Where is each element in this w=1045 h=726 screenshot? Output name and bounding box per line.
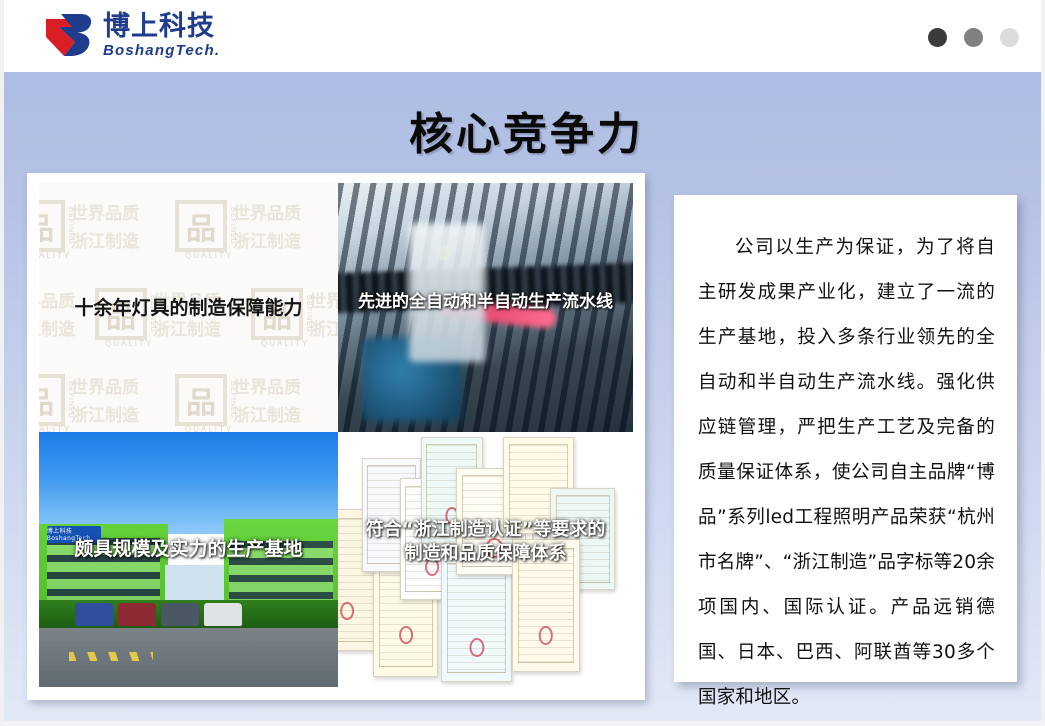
collage-cell-production-base[interactable]: 博上科技 BoshangTech. 颇具规模及实力的生产基地 (39, 432, 338, 687)
brand-name-cn: 博上科技 (103, 13, 220, 40)
dot-mid-icon[interactable] (964, 28, 983, 47)
collage-cell-production-line[interactable]: 先进的全自动和半自动生产流水线 (338, 183, 633, 432)
boshang-b-mark-icon (44, 12, 94, 58)
quality-badge-icon: DEFINEDQUALITY (39, 374, 65, 426)
watermark-line1: 世界品质 (233, 373, 301, 398)
dot-dark-icon[interactable] (928, 28, 947, 47)
road-region (39, 628, 338, 687)
car (118, 603, 156, 626)
pagination-dots[interactable] (928, 28, 1019, 47)
brand-logo[interactable]: 博上科技 BoshangTech. (44, 12, 220, 58)
dot-light-icon[interactable] (1000, 28, 1019, 47)
collage-caption-production-base: 颇具规模及实力的生产基地 (39, 537, 338, 563)
watermark-line2: 浙江制造 (71, 401, 139, 426)
machine-blur-shape (362, 337, 462, 422)
collage-grid: DEFINEDQUALITY 世界品质 浙江制造 DEFINEDQUALITY … (39, 183, 633, 687)
collage-cell-certifications[interactable]: 符合“浙江制造认证”等要求的 制造和品质保障体系 (338, 432, 633, 687)
collage-caption-manufacturing-capability: 十余年灯具的制造保障能力 (39, 296, 338, 322)
car (204, 603, 242, 626)
quality-badge-icon: DEFINEDQUALITY (39, 200, 65, 252)
description-panel: 公司以生产为保证，为了将自主研发成果产业化，建立了一流的生产基地，投入多条行业领… (674, 195, 1017, 682)
page-header: 博上科技 BoshangTech. (4, 0, 1045, 72)
collage-cell-manufacturing-capability[interactable]: DEFINEDQUALITY 世界品质 浙江制造 DEFINEDQUALITY … (39, 183, 338, 432)
watermark-line1: 世界品质 (71, 373, 139, 398)
quality-badge-icon: DEFINEDQUALITY (175, 200, 227, 252)
description-paragraph: 公司以生产为保证，为了将自主研发成果产业化，建立了一流的生产基地，投入多条行业领… (698, 225, 995, 720)
watermark-line1: 世界品质 (233, 199, 301, 224)
collage-caption-production-line: 先进的全自动和半自动生产流水线 (338, 291, 633, 314)
slide-page: 博上科技 BoshangTech. 核心竞争力 DEFINEDQUALITY 世… (0, 0, 1045, 726)
quality-badge-icon: DEFINEDQUALITY (175, 374, 227, 426)
brand-name-en: BoshangTech. (103, 43, 220, 58)
watermark-line1: 世界品质 (71, 199, 139, 224)
car (161, 603, 199, 626)
watermark-line2: 浙江制造 (233, 401, 301, 426)
watermark-line2: 浙江制造 (233, 227, 301, 252)
page-title: 核心竞争力 (4, 98, 1045, 162)
watermark-line2: 浙江制造 (71, 227, 139, 252)
certifications-caption-line2: 制造和品质保障体系 (338, 542, 633, 566)
image-collage-panel: DEFINEDQUALITY 世界品质 浙江制造 DEFINEDQUALITY … (27, 173, 645, 700)
parked-cars (75, 603, 242, 626)
car (75, 603, 113, 626)
collage-caption-certifications: 符合“浙江制造认证”等要求的 制造和品质保障体系 (338, 518, 633, 567)
certifications-caption-line1: 符合“浙江制造认证”等要求的 (338, 518, 633, 542)
